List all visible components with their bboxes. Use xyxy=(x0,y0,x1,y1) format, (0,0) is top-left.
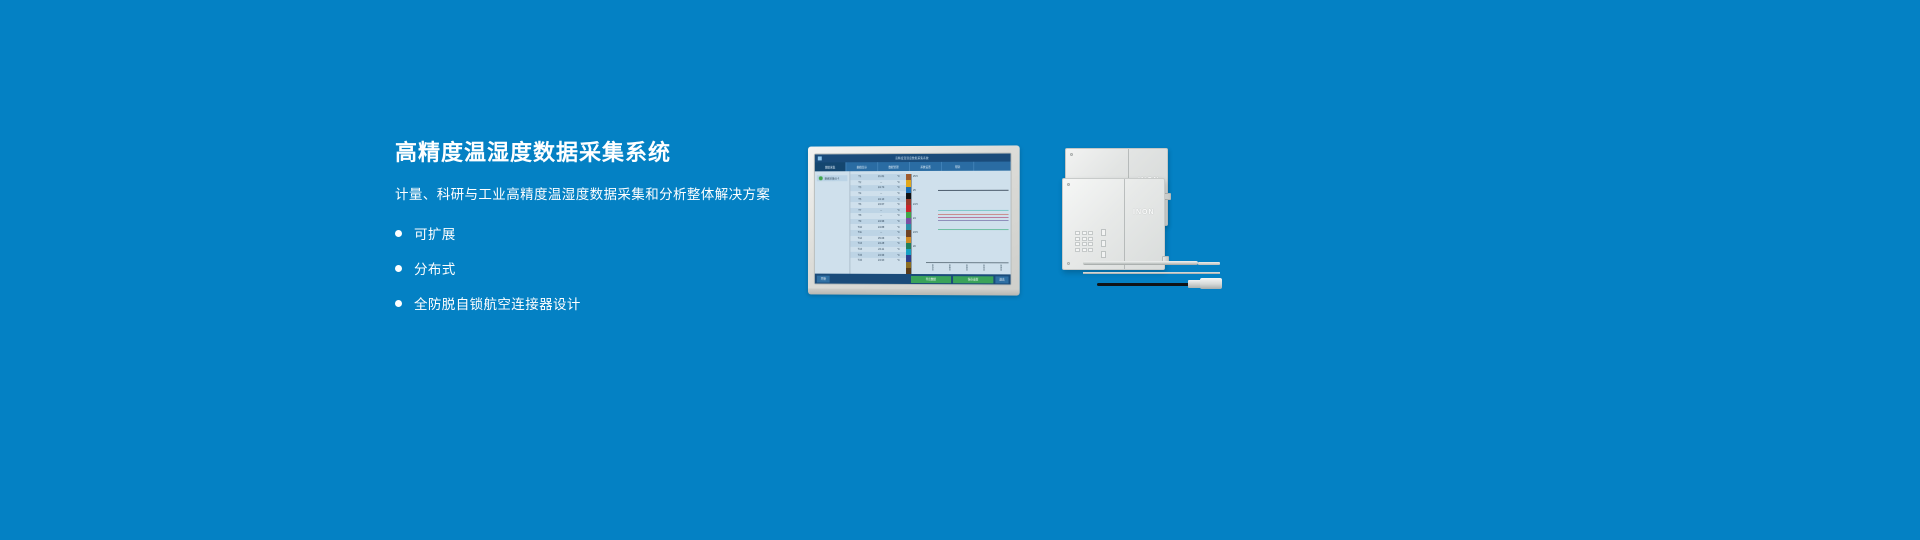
cell-value: 24.13 xyxy=(869,198,893,201)
window-title: 高精度温湿度数据采集系统 xyxy=(815,156,1011,161)
aviation-connector-plug xyxy=(1200,278,1222,289)
thin-sensor-wire xyxy=(1083,272,1220,274)
cell-value: -- xyxy=(869,214,893,217)
cell-value: 25.06 xyxy=(869,237,893,240)
monitor-bezel: 高精度温湿度数据采集系统 数据采集 曲线显示 数据管理 系统设置 帮助 xyxy=(814,153,1012,286)
terminal-cell xyxy=(1075,237,1080,241)
chart-ytick: 24 xyxy=(913,217,916,220)
cell-unit: ℃ xyxy=(893,175,904,178)
screen-body: 数据采集仪-1 T1 21.81 ℃ T2 -- xyxy=(815,171,1011,275)
cell-channel: T11 xyxy=(850,231,869,234)
exit-button[interactable]: 退出 xyxy=(995,276,1008,283)
terminal-cell xyxy=(1088,237,1093,241)
feature-item: 全防脱自锁航空连接器设计 xyxy=(395,293,795,313)
terminal-cell xyxy=(1082,237,1087,241)
bullet-dot-icon xyxy=(395,230,402,237)
tab-curve-display[interactable]: 曲线显示 xyxy=(846,162,878,171)
brand-logo-text: INON xyxy=(1133,209,1155,216)
product-photo-group: 高精度温湿度数据采集系统 数据采集 曲线显示 数据管理 系统设置 帮助 xyxy=(800,130,1220,320)
cell-channel: T3 xyxy=(850,187,869,190)
connector-port xyxy=(1101,229,1106,236)
cell-unit: ℃ xyxy=(893,231,904,234)
cell-unit: ℃ xyxy=(893,242,904,245)
status-ok-icon xyxy=(819,176,823,180)
chart-series-line xyxy=(938,220,1009,221)
cell-unit: ℃ xyxy=(893,214,904,217)
screw-icon xyxy=(1067,262,1070,265)
cell-unit: ℃ xyxy=(893,259,904,262)
cell-value: -- xyxy=(869,192,893,195)
aviation-connector-cable xyxy=(1097,283,1190,286)
cell-unit: ℃ xyxy=(893,181,904,184)
cell-value: -- xyxy=(869,231,893,234)
side-connector xyxy=(1164,193,1171,200)
screw-icon xyxy=(1067,183,1070,186)
cell-value: 23.67 xyxy=(869,203,893,206)
cell-channel: T15 xyxy=(850,253,869,256)
terminal-cell xyxy=(1088,248,1093,252)
probe-rod-tip xyxy=(1198,262,1220,265)
cell-channel: T2 xyxy=(850,181,869,184)
chart-series-line xyxy=(938,210,1009,211)
cell-value: 24.28 xyxy=(869,242,893,245)
tab-system-settings[interactable]: 系统设置 xyxy=(910,162,942,171)
cell-value: 24.94 xyxy=(869,259,893,262)
monitor-stand xyxy=(808,288,1020,295)
cell-value: -- xyxy=(869,209,893,212)
tab-help[interactable]: 帮助 xyxy=(942,162,974,171)
table-row[interactable]: T16 24.94 ℃ xyxy=(850,258,906,264)
terminal-cell xyxy=(1088,242,1093,246)
terminal-cell xyxy=(1082,248,1087,252)
screen-footer-toolbar: 开始 导出数据 保存设置 退出 xyxy=(815,274,1011,285)
connector-port xyxy=(1101,251,1106,258)
tab-data-management[interactable]: 数据管理 xyxy=(878,162,910,171)
sidebar-item-logger-1[interactable]: 数据采集仪-1 xyxy=(817,175,848,181)
save-settings-button[interactable]: 保存设置 xyxy=(953,276,993,283)
hero-text-block: 高精度温湿度数据采集系统 计量、科研与工业高精度温湿度数据采集和分析整体解决方案… xyxy=(395,138,795,328)
cell-unit: ℃ xyxy=(893,248,904,251)
terminal-cell xyxy=(1088,231,1093,235)
page-title: 高精度温湿度数据采集系统 xyxy=(395,138,795,168)
cell-unit: ℃ xyxy=(893,187,904,190)
cell-unit: ℃ xyxy=(893,220,904,223)
feature-label: 全防脱自锁航空连接器设计 xyxy=(414,293,581,313)
chart-ytick: 20 xyxy=(913,245,916,248)
cell-unit: ℃ xyxy=(893,209,904,212)
cell-channel: T16 xyxy=(850,259,869,262)
cell-channel: T4 xyxy=(850,192,869,195)
chart-ytick: 25 xyxy=(913,189,916,192)
hero-subtitle: 计量、科研与工业高精度温湿度数据采集和分析整体解决方案 xyxy=(395,185,795,205)
terminal-cell xyxy=(1075,242,1080,246)
cell-value: -- xyxy=(869,181,893,184)
cell-channel: T8 xyxy=(850,214,869,217)
cell-value: 24.11 xyxy=(869,248,893,251)
feature-label: 可扩展 xyxy=(414,223,456,243)
enclosure-seam xyxy=(1124,179,1125,269)
tab-data-acquisition[interactable]: 数据采集 xyxy=(815,162,847,171)
cell-value: 24.96 xyxy=(869,220,893,223)
cell-unit: ℃ xyxy=(893,198,904,201)
chart-ytick: 23.5 xyxy=(913,231,918,234)
feature-label: 分布式 xyxy=(414,258,456,278)
terminal-cell xyxy=(1082,231,1087,235)
screen-sidebar: 数据采集仪-1 xyxy=(815,171,851,274)
chart-x-axis xyxy=(926,262,1009,263)
cell-channel: T6 xyxy=(850,203,869,206)
trend-chart: 25.5 25 24.5 24 23.5 20 xyxy=(911,174,1011,275)
chart-series-line xyxy=(938,190,1009,191)
cell-value: 24.96 xyxy=(869,253,893,256)
cell-value: 24.88 xyxy=(869,226,893,229)
cell-channel: T5 xyxy=(850,198,869,201)
bullet-dot-icon xyxy=(395,300,402,307)
panel-pc-device: 高精度温湿度数据采集系统 数据采集 曲线显示 数据管理 系统设置 帮助 xyxy=(808,145,1020,294)
terminal-block-array xyxy=(1075,231,1093,252)
feature-list: 可扩展 分布式 全防脱自锁航空连接器设计 xyxy=(395,223,795,313)
cell-unit: ℃ xyxy=(893,203,904,206)
cell-unit: ℃ xyxy=(893,254,904,257)
cell-channel: T10 xyxy=(850,226,869,229)
cell-value: 21.81 xyxy=(869,175,893,178)
chart-series-line xyxy=(938,229,1009,230)
terminal-cell xyxy=(1075,231,1080,235)
cell-value: 24.74 xyxy=(869,187,893,190)
cell-channel: T9 xyxy=(850,220,869,223)
cell-unit: ℃ xyxy=(893,237,904,240)
cell-channel: T12 xyxy=(850,237,869,240)
chart-xtick: 10:20:00 xyxy=(928,264,933,270)
cell-channel: T13 xyxy=(850,242,869,245)
chart-ytick: 24.5 xyxy=(913,203,918,206)
chart-xtick: 10:24:00 xyxy=(945,264,950,270)
export-data-button[interactable]: 导出数据 xyxy=(911,275,951,282)
connector-port xyxy=(1101,240,1106,247)
data-logger-enclosure-front: INON xyxy=(1062,178,1165,270)
cell-channel: T7 xyxy=(850,209,869,212)
chart-xtick: 10:36:00 xyxy=(996,264,1001,270)
sidebar-item-label: 数据采集仪-1 xyxy=(825,176,840,180)
cell-channel: T1 xyxy=(850,175,869,178)
feature-item: 可扩展 xyxy=(395,223,795,243)
chart-ytick: 25.5 xyxy=(913,175,918,178)
device-screen: 高精度温湿度数据采集系统 数据采集 曲线显示 数据管理 系统设置 帮助 xyxy=(815,154,1011,285)
screen-titlebar: 高精度温湿度数据采集系统 xyxy=(815,154,1011,163)
chart-series-line xyxy=(938,217,1009,218)
chart-series-line xyxy=(938,214,1009,215)
cell-unit: ℃ xyxy=(893,226,904,229)
hero-banner: 高精度温湿度数据采集系统 计量、科研与工业高精度温湿度数据采集和分析整体解决方案… xyxy=(0,0,1920,540)
chart-xtick: 10:28:00 xyxy=(962,264,967,270)
terminal-cell xyxy=(1082,242,1087,246)
screw-icon xyxy=(1070,153,1073,156)
cell-unit: ℃ xyxy=(893,192,904,195)
channel-table: T1 21.81 ℃ T2 -- ℃ T3 24.74 xyxy=(850,171,906,274)
feature-item: 分布式 xyxy=(395,258,795,278)
start-button[interactable]: 开始 xyxy=(817,275,830,282)
temperature-probe-rod xyxy=(1083,261,1198,265)
chart-xtick: 10:32:00 xyxy=(979,264,984,270)
cell-channel: T14 xyxy=(850,248,869,251)
bullet-dot-icon xyxy=(395,265,402,272)
terminal-cell xyxy=(1075,248,1080,252)
